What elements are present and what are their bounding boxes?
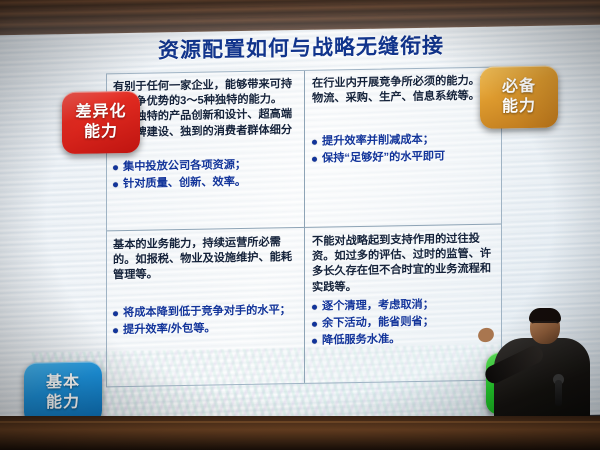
list-item: 针对质量、创新、效率。 — [113, 174, 292, 192]
quadrant-bullet-list: 集中投放公司各项资源； 针对质量、创新、效率。 — [113, 157, 292, 192]
list-item: 提升效率/外包等。 — [113, 320, 292, 338]
bullet-dot-icon — [113, 182, 118, 187]
badge-differentiating-capability: 差异化 能力 — [62, 91, 140, 154]
presenter-silhouette — [484, 308, 600, 428]
presenter-glasses — [532, 321, 558, 329]
bullet-text: 集中投放公司各项资源； — [123, 157, 292, 175]
bullet-dot-icon — [312, 322, 317, 327]
list-item: 逐个清理，考虑取消； — [312, 296, 491, 314]
list-item: 降低服务水准。 — [312, 330, 491, 348]
bullet-dot-icon — [113, 311, 118, 316]
bullet-text: 余下活动，能省则省； — [322, 313, 491, 331]
badge-line-2: 能力 — [502, 97, 536, 118]
photo-of-projected-slide: 资源配置如何与战略无缝衔接 有别于任何一家企业，能够带来可持续竞争优势的3～5种… — [0, 0, 600, 450]
bullet-dot-icon — [113, 328, 118, 333]
quadrant-essential: 在行业内开展竞争所必须的能力。如物流、采购、生产、信息系统等。 提升效率并削减成… — [306, 68, 495, 168]
badge-essential-capability: 必备 能力 — [480, 65, 558, 128]
badge-line-1: 基本 — [46, 373, 80, 394]
bullet-text: 保持“足够好”的水平即可 — [322, 149, 491, 167]
bullet-text: 逐个清理，考虑取消； — [322, 296, 491, 314]
list-item: 保持“足够好”的水平即可 — [312, 149, 491, 167]
badge-line-2: 能力 — [46, 393, 80, 414]
quadrant-bullet-list: 将成本降到低于竞争对手的水平； 提升效率/外包等。 — [113, 303, 292, 338]
quadrant-bullet-list: 逐个清理，考虑取消； 余下活动，能省则省； 降低服务水准。 — [312, 296, 491, 348]
bullet-dot-icon — [312, 140, 317, 145]
bullet-text: 提升效率并削减成本； — [322, 132, 491, 150]
list-item: 集中投放公司各项资源； — [113, 157, 292, 175]
microphone-icon — [555, 380, 562, 406]
bullet-text: 降低服务水准。 — [322, 330, 491, 348]
capability-matrix: 有别于任何一家企业，能够带来可持续竞争优势的3～5种独特的能力。例如独特的产品创… — [106, 66, 502, 387]
list-item: 将成本降到低于竞争对手的水平； — [113, 303, 292, 321]
bullet-dot-icon — [113, 165, 118, 170]
bullet-text: 提升效率/外包等。 — [123, 320, 292, 338]
quadrant-paragraph: 基本的业务能力，持续运营所必需的。如报税、物业及设施维护、能耗管理等。 — [113, 235, 292, 284]
bullet-text: 将成本降到低于竞争对手的水平； — [123, 303, 292, 321]
badge-line-2: 能力 — [84, 122, 118, 143]
list-item: 提升效率并削减成本； — [312, 132, 491, 150]
quadrant-paragraph: 不能对战略起到支持作用的过往投资。如过多的评估、过时的监管、许多长久存在但不合时… — [312, 232, 491, 296]
badge-line-1: 必备 — [502, 77, 536, 98]
list-item: 余下活动，能省则省； — [312, 313, 491, 331]
slide-title: 资源配置如何与战略无缝衔接 — [112, 29, 490, 66]
slide-title-text: 资源配置如何与战略无缝衔接 — [112, 29, 490, 66]
bullet-dot-icon — [312, 339, 317, 344]
badge-line-1: 差异化 — [75, 102, 126, 123]
quadrant-paragraph: 在行业内开展竞争所必须的能力。如物流、采购、生产、信息系统等。 — [312, 74, 491, 108]
bullet-dot-icon — [312, 157, 317, 162]
quadrant-basic: 基本的业务能力，持续运营所必需的。如报税、物业及设施维护、能耗管理等。 将成本降… — [107, 229, 296, 338]
quadrant-bullet-list: 提升效率并削减成本； 保持“足够好”的水平即可 — [312, 132, 491, 167]
quadrant-redundant: 不能对战略起到支持作用的过往投资。如过多的评估、过时的监管、许多长久存在但不合时… — [306, 226, 495, 349]
wooden-stage-edge — [0, 416, 600, 450]
bullet-dot-icon — [312, 305, 317, 310]
bullet-text: 针对质量、创新、效率。 — [123, 174, 292, 192]
